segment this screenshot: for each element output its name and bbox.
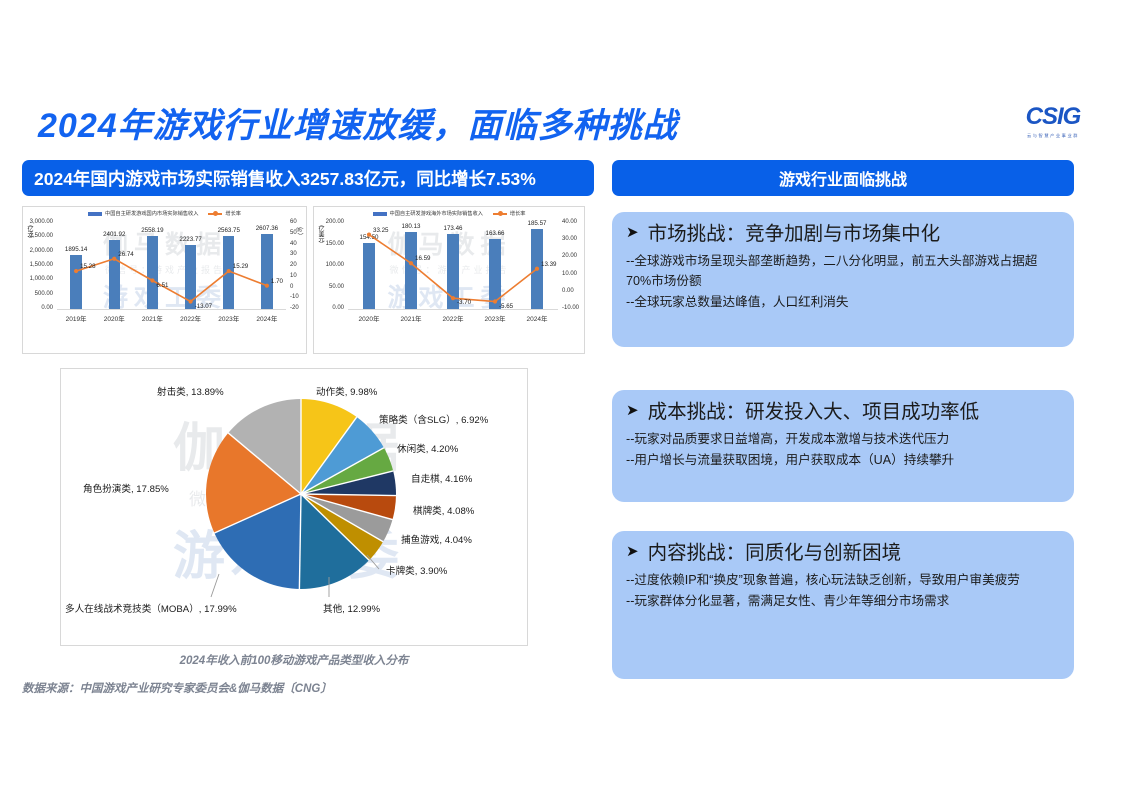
legend-item-line: 增长率 — [208, 210, 241, 217]
page-title: 2024年游戏行业增速放缓，面临多种挑战 — [38, 98, 678, 147]
legend-line-swatch — [208, 213, 222, 215]
chart-mobile-genre-share: 伽马数据 微信号：游戏产业报告 游戏工委 动作类, 9.98%策略类（含SLG）… — [60, 368, 528, 646]
legend-item-bar: 中国自主研发游戏国内市场实际销售收入 — [88, 210, 198, 217]
pie-slice-label: 棋牌类, 4.08% — [413, 503, 474, 517]
legend-bar-label: 中国自主研发游戏海外市场实际销售收入 — [390, 210, 483, 217]
chart1-ylabel: （亿元） — [25, 221, 34, 241]
chart1-legend: 中国自主研发游戏国内市场实际销售收入 增长率 — [23, 210, 306, 217]
line-value-label: -13.07 — [195, 303, 213, 310]
card-bullet: --玩家群体分化显著，需满足女性、青少年等细分市场需求 — [626, 592, 1060, 612]
challenge-card-content: ➤ 内容挑战：同质化与创新困境 --过度依赖IP和“换皮”现象普遍，核心玩法缺乏… — [612, 531, 1074, 679]
arrow-right-icon: ➤ — [626, 541, 639, 563]
legend-item-bar: 中国自主研发游戏海外市场实际销售收入 — [373, 210, 483, 217]
card-bullet: --玩家对品质要求日益增高，开发成本激增与技术迭代压力 — [626, 430, 1060, 450]
legend-line-label: 增长率 — [510, 210, 526, 217]
legend-bar-swatch — [373, 212, 387, 216]
arrow-right-icon: ➤ — [626, 222, 639, 244]
card-heading-text: 成本挑战：研发投入大、项目成功率低 — [648, 400, 980, 424]
line-value-label: -3.70 — [457, 299, 471, 306]
card-heading-text: 内容挑战：同质化与创新困境 — [648, 541, 902, 565]
chart1-plot: 伽马数据 微信号：游戏产业报告 游戏工委 3,000.002,500.002,0… — [23, 217, 306, 323]
pie-slice-label: 捕鱼游戏, 4.04% — [401, 532, 472, 546]
card-bullet: --过度依赖IP和“换皮”现象普遍，核心玩法缺乏创新，导致用户审美疲劳 — [626, 571, 1060, 591]
growth-rate-line — [314, 217, 584, 323]
chart2-ylabel: （亿美元） — [316, 221, 325, 246]
logo-subtitle: 云与智慧产业事业群 — [1027, 133, 1079, 139]
legend-bar-swatch — [88, 212, 102, 216]
card-bullet: --全球游戏市场呈现头部垄断趋势，二八分化明显，前五大头部游戏占据超70%市场份… — [626, 252, 1060, 292]
chart-overseas-revenue: 中国自主研发游戏海外市场实际销售收入 增长率 伽马数据 微信号：游戏产业报告 游… — [313, 206, 585, 354]
challenge-card-market: ➤ 市场挑战：竞争加剧与市场集中化 --全球游戏市场呈现头部垄断趋势，二八分化明… — [612, 212, 1074, 347]
pie-slice-label: 动作类, 9.98% — [316, 384, 377, 398]
pie-slice-label: 角色扮演类, 17.85% — [83, 481, 169, 495]
card-heading: ➤ 成本挑战：研发投入大、项目成功率低 — [626, 400, 1060, 424]
challenge-card-cost: ➤ 成本挑战：研发投入大、项目成功率低 --玩家对品质要求日益增高，开发成本激增… — [612, 390, 1074, 502]
line-value-label: 16.59 — [415, 255, 430, 262]
line-value-label: 15.28 — [80, 263, 95, 270]
line-value-label: 1.70 — [271, 278, 283, 285]
line-value-label: 13.39 — [541, 261, 556, 268]
line-value-label: 33.25 — [373, 227, 388, 234]
pie-slice-label: 多人在线战术竞技类（MOBA）, 17.99% — [65, 601, 237, 615]
legend-line-label: 增长率 — [225, 210, 241, 217]
slide-root: 2024年游戏行业增速放缓，面临多种挑战 CSIG 云与智慧产业事业群 2024… — [0, 0, 1123, 793]
line-value-label: -5.65 — [499, 303, 513, 310]
card-bullet: --全球玩家总数量达峰值，人口红利消失 — [626, 293, 1060, 313]
banner-industry-challenges: 游戏行业面临挑战 — [612, 160, 1074, 196]
source-note: 数据来源：中国游戏产业研究专家委员会&伽马数据〔CNG〕 — [22, 680, 332, 696]
arrow-right-icon: ➤ — [626, 400, 639, 422]
chart1-ylabel-right: （%） — [295, 223, 304, 238]
chart2-legend: 中国自主研发游戏海外市场实际销售收入 增长率 — [314, 210, 584, 217]
pie-slice-label: 休闲类, 4.20% — [397, 441, 458, 455]
pie-slice-label: 其他, 12.99% — [323, 601, 380, 615]
logo-mark: CSIG — [1026, 105, 1081, 129]
line-value-label: 26.74 — [118, 251, 133, 258]
chart2-plot: 伽马数据 微信号：游戏产业报告 游戏工委 200.00150.00100.005… — [314, 217, 584, 323]
legend-item-line: 增长率 — [493, 210, 526, 217]
card-heading: ➤ 内容挑战：同质化与创新困境 — [626, 541, 1060, 565]
legend-bar-label: 中国自主研发游戏国内市场实际销售收入 — [105, 210, 198, 217]
growth-rate-line — [23, 217, 306, 323]
pie-slice-label: 自走棋, 4.16% — [411, 471, 472, 485]
pie-separators — [206, 399, 396, 589]
pie-slice-label: 射击类, 13.89% — [157, 384, 224, 398]
csig-logo: CSIG 云与智慧产业事业群 — [1013, 100, 1093, 144]
line-value-label: 15.29 — [233, 263, 248, 270]
card-heading: ➤ 市场挑战：竞争加剧与市场集中化 — [626, 222, 1060, 246]
banner-domestic-revenue: 2024年国内游戏市场实际销售收入3257.83亿元，同比增长7.53% — [22, 160, 594, 196]
card-bullet: --用户增长与流量获取困境，用户获取成本（UA）持续攀升 — [626, 451, 1060, 471]
line-value-label: 6.51 — [156, 282, 168, 289]
chart-domestic-revenue: 中国自主研发游戏国内市场实际销售收入 增长率 伽马数据 微信号：游戏产业报告 游… — [22, 206, 307, 354]
pie-caption: 2024年收入前100移动游戏产品类型收入分布 — [60, 652, 528, 668]
legend-line-swatch — [493, 213, 507, 215]
card-heading-text: 市场挑战：竞争加剧与市场集中化 — [648, 222, 941, 246]
